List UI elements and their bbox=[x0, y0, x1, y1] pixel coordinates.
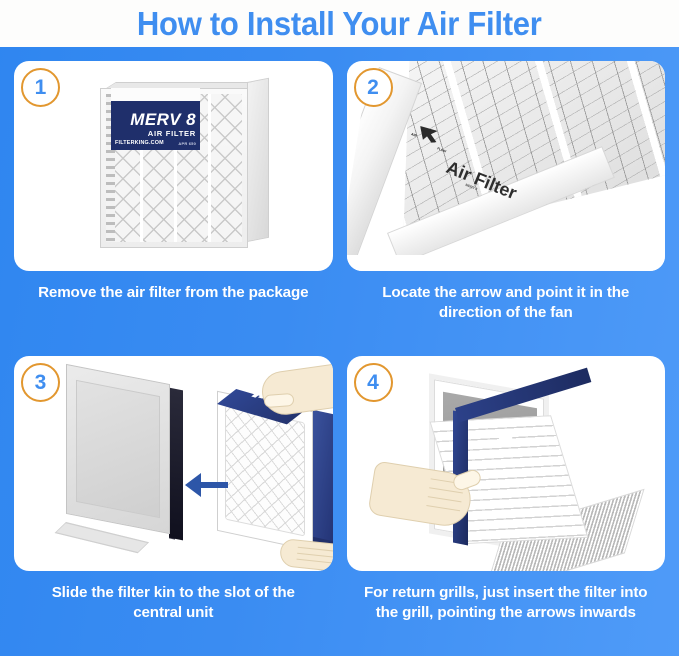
step-badge-4: 4 bbox=[354, 363, 393, 402]
step-badge-2: 2 bbox=[354, 68, 393, 107]
brand-website-text: FILTERKING.COM bbox=[115, 140, 164, 146]
merv-rating-text: MERV 8 bbox=[111, 110, 196, 130]
hand-lower bbox=[279, 538, 333, 571]
page-title: How to Install Your Air Filter bbox=[137, 5, 542, 43]
direction-arrow-icon bbox=[184, 472, 228, 498]
filter-corner-closeup: AIR FLOW Air Filter MERV 8 bbox=[347, 61, 666, 271]
origin-text: MADE IN USA bbox=[186, 91, 198, 99]
filter-side-edge-navy bbox=[312, 410, 333, 555]
brand-name: FILTER KING bbox=[123, 90, 139, 100]
hand-upper bbox=[259, 362, 332, 418]
step-number-4: 4 bbox=[367, 372, 379, 393]
product-type-text: AIR FILTER bbox=[111, 129, 196, 138]
step-number-3: 3 bbox=[35, 372, 47, 393]
filter-box-side-face bbox=[247, 78, 269, 242]
filter-diamond-mesh bbox=[225, 405, 305, 536]
step-caption-2: Locate the arrow and point it in the dir… bbox=[347, 271, 666, 323]
step-panel-1: FILTER KING MADE IN USA bbox=[14, 61, 333, 356]
header-band: How to Install Your Air Filter bbox=[0, 0, 679, 47]
filter-product-label: FILTER KING MADE IN USA bbox=[111, 88, 200, 150]
step-badge-3: 3 bbox=[21, 363, 60, 402]
step-panel-3: 3 Slide the filter kin to the slot of th… bbox=[14, 356, 333, 652]
label-footer: FILTERKING.COM APR 650 bbox=[115, 140, 196, 146]
step-3-illustration bbox=[14, 356, 333, 571]
unit-slot-recess bbox=[76, 380, 160, 518]
origin-badge: MADE IN USA bbox=[174, 91, 198, 99]
step-badge-1: 1 bbox=[21, 68, 60, 107]
merv8-filter-box: FILTER KING MADE IN USA bbox=[100, 82, 270, 252]
steps-grid: FILTER KING MADE IN USA bbox=[0, 47, 679, 656]
apr-rating-text: APR 650 bbox=[178, 141, 196, 146]
step-number-1: 1 bbox=[35, 77, 47, 98]
infographic-root: How to Install Your Air Filter bbox=[0, 0, 679, 656]
step-2-illustration: AIR FLOW Air Filter MERV 8 bbox=[347, 61, 666, 271]
step-number-2: 2 bbox=[367, 77, 379, 98]
thumb-upper bbox=[264, 393, 295, 408]
step-4-image-card: 4 bbox=[347, 356, 666, 571]
step-1-image-card: FILTER KING MADE IN USA bbox=[14, 61, 333, 271]
usa-flag-icon bbox=[174, 92, 185, 99]
step-panel-4: 4 For return grills, just insert the fil… bbox=[347, 356, 666, 652]
step-caption-3: Slide the filter kin to the slot of the … bbox=[14, 571, 333, 623]
step-1-illustration: FILTER KING MADE IN USA bbox=[14, 61, 333, 271]
brand-logo-row: FILTER KING MADE IN USA bbox=[113, 89, 198, 101]
step-3-image-card: 3 bbox=[14, 356, 333, 571]
unit-slot-dark-cavity bbox=[169, 388, 183, 541]
step-caption-4: For return grills, just insert the filte… bbox=[347, 571, 666, 623]
crown-icon bbox=[113, 92, 120, 99]
step-4-illustration bbox=[347, 356, 666, 571]
step-caption-1: Remove the air filter from the package bbox=[14, 271, 333, 303]
step-2-image-card: AIR FLOW Air Filter MERV 8 2 bbox=[347, 61, 666, 271]
frame-edge-mask-bottom bbox=[347, 255, 666, 271]
step-panel-2: AIR FLOW Air Filter MERV 8 2 Locate the … bbox=[347, 61, 666, 356]
